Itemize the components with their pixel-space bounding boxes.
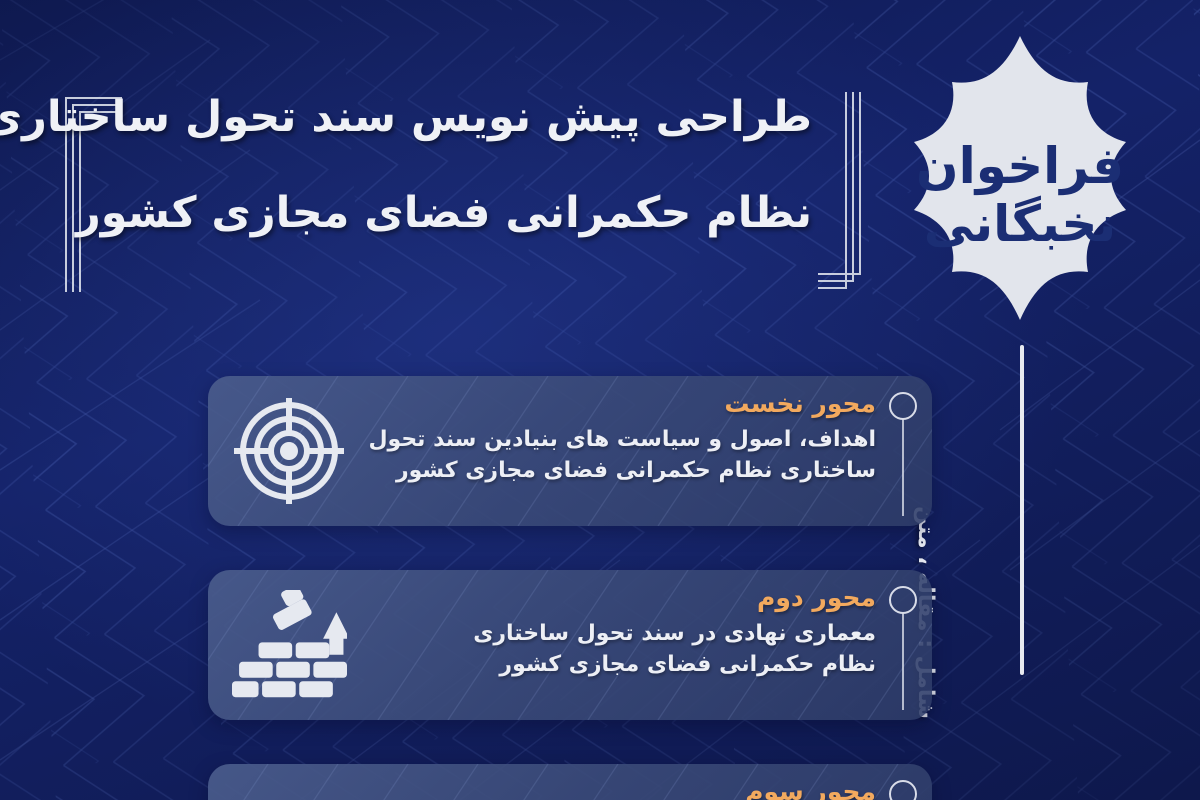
card-pin-marker <box>888 584 918 714</box>
card-description-line-2: نظام حکمرانی فضای مجازی کشور <box>348 649 876 680</box>
card-body: محور نخست اهداف، اصول و سیاست های بنیادی… <box>348 390 876 486</box>
badge: فراخوان نخبگانی <box>860 30 1180 360</box>
title-block: طراحی پیش نویس سند تحول ساختاری نظام حکم… <box>52 92 870 297</box>
poster-canvas: طراحی پیش نویس سند تحول ساختاری نظام حکم… <box>0 0 1200 800</box>
card-pin-marker <box>888 390 918 520</box>
card-pin-marker <box>888 778 918 800</box>
target-icon <box>232 396 347 506</box>
axis-card-second[interactable]: محور دوم معماری نهادی در سند تحول ساختار… <box>208 570 932 720</box>
title-line-1: طراحی پیش نویس سند تحول ساختاری <box>130 94 812 140</box>
title-text: طراحی پیش نویس سند تحول ساختاری نظام حکم… <box>130 94 812 237</box>
badge-rosette-shape <box>860 30 1180 360</box>
axis-card-first[interactable]: محور نخست اهداف، اصول و سیاست های بنیادی… <box>208 376 932 526</box>
badge-connector-stem <box>1020 345 1024 675</box>
card-description-line-1: اهداف، اصول و سیاست های بنیادین سند تحول <box>348 424 876 455</box>
card-heading: محور سوم <box>348 778 876 800</box>
brick-wall-icon <box>232 590 347 700</box>
card-description-line-1: معماری نهادی در سند تحول ساختاری <box>348 618 876 649</box>
card-body: محور دوم معماری نهادی در سند تحول ساختار… <box>348 584 876 680</box>
title-line-2: نظام حکمرانی فضای مجازی کشور <box>130 190 812 236</box>
card-heading: محور نخست <box>348 390 876 418</box>
card-heading: محور دوم <box>348 584 876 612</box>
axis-card-third[interactable]: محور سوم <box>208 764 932 800</box>
card-body: محور سوم <box>348 778 876 800</box>
card-description-line-2: ساختاری نظام حکمرانی فضای مجازی کشور <box>348 455 876 486</box>
